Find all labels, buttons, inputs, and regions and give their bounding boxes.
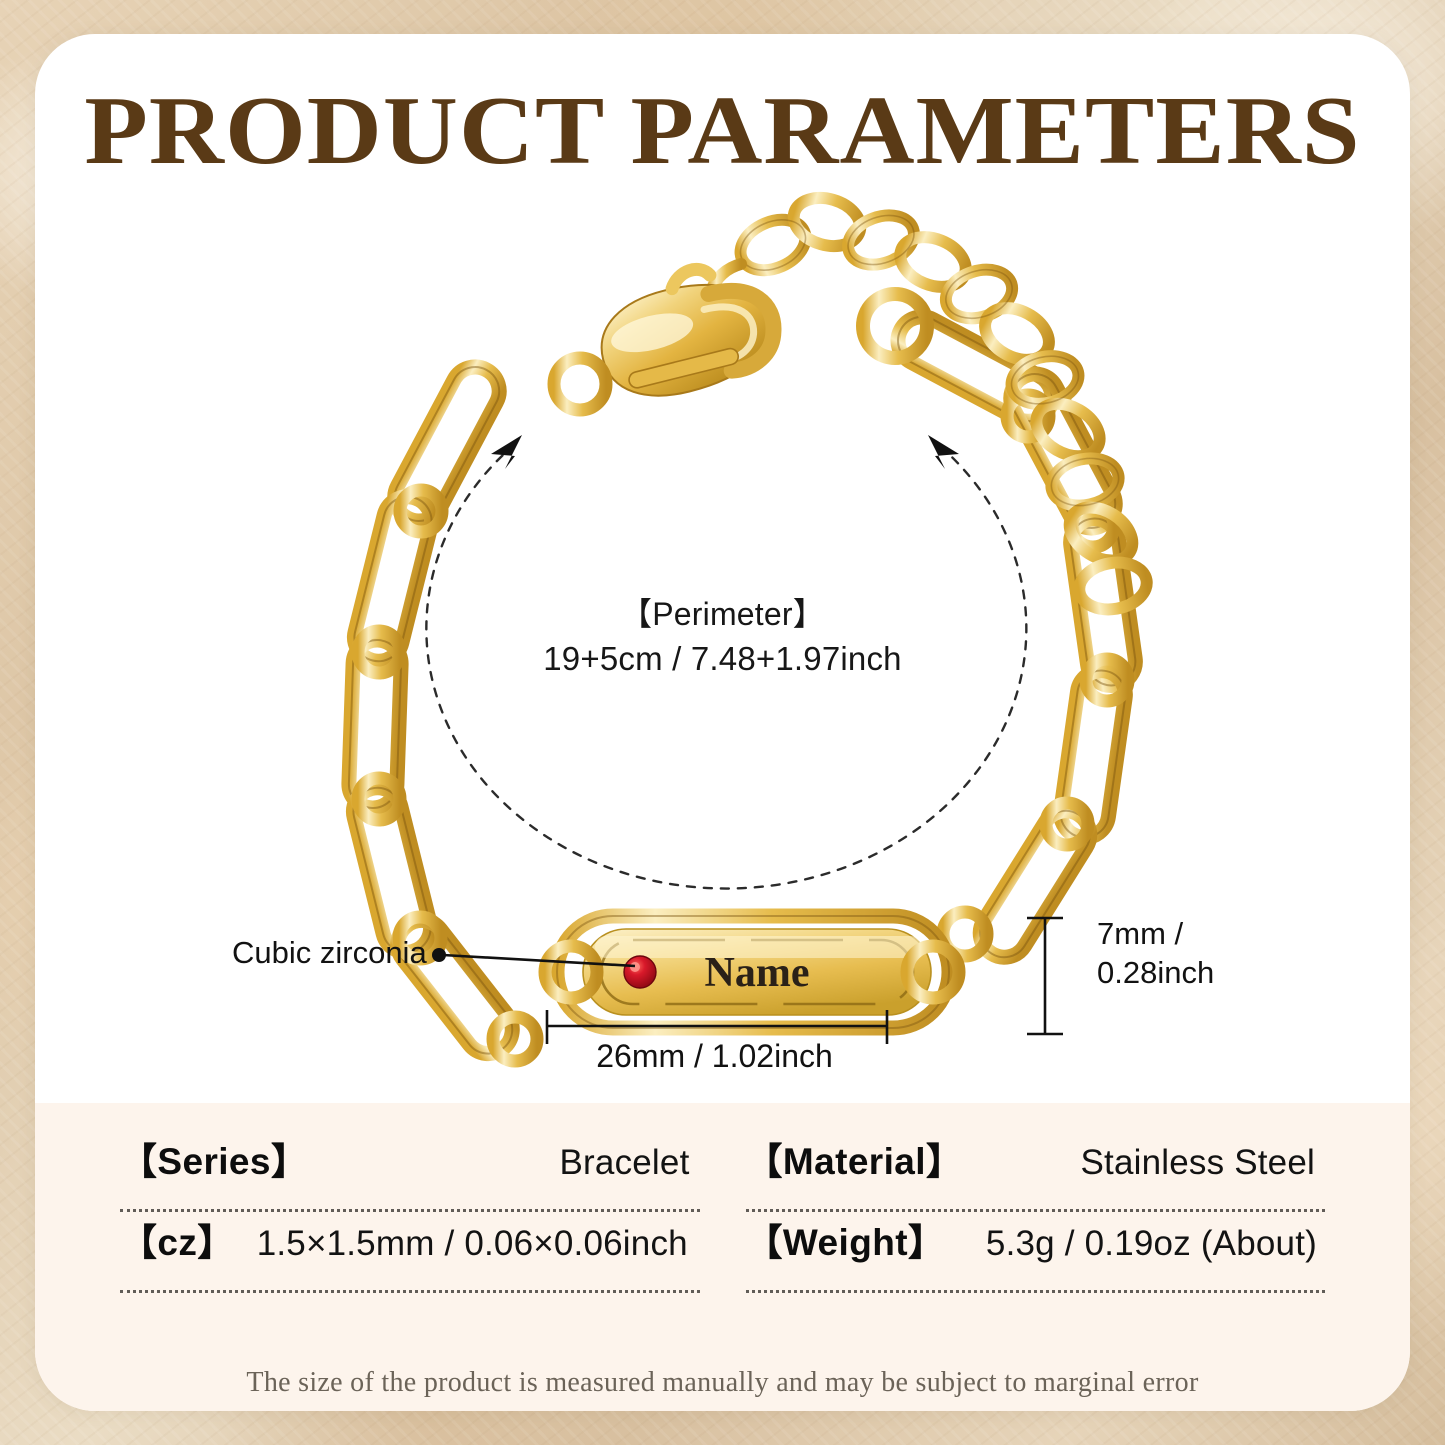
spec-divider-right-1 bbox=[746, 1209, 1326, 1212]
spec-row-cz: 【cz】 1.5×1.5mm / 0.06×0.06inch bbox=[120, 1212, 700, 1290]
cubic-zirconia-label: Cubic zirconia bbox=[232, 935, 427, 971]
spec-divider-left-1 bbox=[120, 1209, 700, 1212]
spec-value-material: Stainless Steel bbox=[1080, 1143, 1325, 1183]
spec-key-material: 【Material】 bbox=[746, 1131, 964, 1185]
spec-row-weight: 【Weight】 5.3g / 0.19oz (About) bbox=[746, 1212, 1326, 1290]
clasp-connector-ring bbox=[554, 358, 606, 410]
measurement-disclaimer: The size of the product is measured manu… bbox=[35, 1367, 1410, 1399]
spec-cell-material: 【Material】 Stainless Steel 【Weight】 5.3g… bbox=[746, 1131, 1326, 1293]
spec-value-cz: 1.5×1.5mm / 0.06×0.06inch bbox=[257, 1224, 688, 1264]
cubic-zirconia-stone bbox=[624, 956, 656, 988]
perimeter-arrow-left bbox=[491, 435, 522, 469]
lobster-clasp bbox=[587, 254, 784, 410]
specifications-panel: 【Series】 Bracelet 【cz】 1.5×1.5mm / 0.06×… bbox=[35, 1103, 1410, 1411]
connector-rings-left bbox=[358, 490, 537, 1061]
spec-divider-right-2 bbox=[746, 1290, 1326, 1293]
spec-row-material: 【Material】 Stainless Steel bbox=[746, 1131, 1326, 1209]
spec-key-cz: 【cz】 bbox=[120, 1212, 235, 1266]
width-dimension-label: 26mm / 1.02inch bbox=[35, 1038, 1410, 1075]
spec-value-series: Bracelet bbox=[560, 1143, 700, 1183]
height-dimension-line1: 7mm / bbox=[1097, 914, 1214, 953]
spec-divider-left-2 bbox=[120, 1290, 700, 1293]
spec-value-weight: 5.3g / 0.19oz (About) bbox=[986, 1224, 1325, 1264]
perimeter-dashed-ellipse bbox=[426, 444, 1026, 889]
nameplate-engraving: Name bbox=[705, 950, 810, 996]
product-parameters-card: PRODUCT PARAMETERS bbox=[35, 34, 1410, 1411]
specifications-grid: 【Series】 Bracelet 【cz】 1.5×1.5mm / 0.06×… bbox=[120, 1131, 1325, 1293]
width-dimension-value: 26mm / 1.02inch bbox=[596, 1038, 833, 1074]
spec-key-weight: 【Weight】 bbox=[746, 1212, 946, 1266]
perimeter-arrow-right bbox=[928, 435, 959, 469]
spec-key-series: 【Series】 bbox=[120, 1131, 308, 1185]
height-dimension-label: 7mm / 0.28inch bbox=[1097, 914, 1214, 993]
height-dimension-line2: 0.28inch bbox=[1097, 953, 1214, 992]
infographic-canvas: PRODUCT PARAMETERS bbox=[0, 0, 1445, 1445]
spec-row-series: 【Series】 Bracelet bbox=[120, 1131, 700, 1209]
spec-cell-series: 【Series】 Bracelet 【cz】 1.5×1.5mm / 0.06×… bbox=[120, 1131, 700, 1293]
extender-chain bbox=[708, 191, 1150, 615]
